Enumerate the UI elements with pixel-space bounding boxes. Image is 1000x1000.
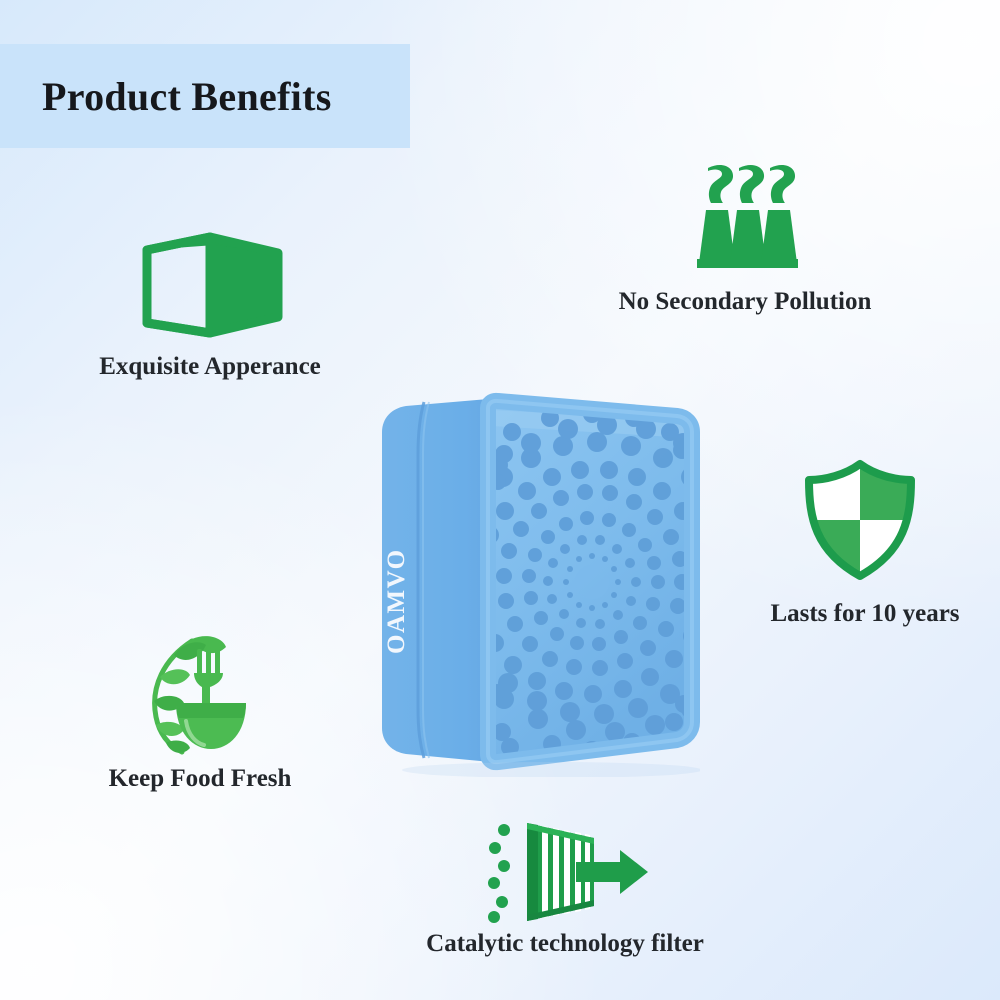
- feature-label-lasts-10-years: Lasts for 10 years: [740, 600, 990, 628]
- feature-keep-food-fresh: Keep Food Fresh: [75, 625, 325, 830]
- page-title: Product Benefits: [42, 73, 332, 120]
- shield-icon: [795, 455, 925, 585]
- product-benefits-infographic: Product Benefits Exquisite Apperance: [0, 0, 1000, 1000]
- feature-label-exquisite-apperance: Exquisite Apperance: [60, 353, 360, 381]
- feature-label-no-secondary-pollution: No Secondary Pollution: [585, 288, 905, 316]
- feature-exquisite-apperance: Exquisite Apperance: [60, 225, 360, 425]
- feature-label-catalytic-technology-filter: Catalytic technology filter: [390, 930, 740, 958]
- feature-lasts-10-years: Lasts for 10 years: [740, 455, 990, 665]
- cube-icon: [135, 225, 285, 340]
- factory-icon: [695, 160, 800, 270]
- filter-arrow-icon: [480, 818, 650, 923]
- feature-no-secondary-pollution: No Secondary Pollution: [585, 160, 905, 350]
- title-banner: Product Benefits: [0, 44, 410, 148]
- feature-catalytic-technology-filter: Catalytic technology filter: [390, 818, 740, 973]
- product-image: OAMVO: [352, 392, 700, 777]
- product-brand-text: OAMVO: [383, 548, 410, 654]
- feature-label-keep-food-fresh: Keep Food Fresh: [75, 765, 325, 793]
- bowl-leaf-icon: [130, 625, 265, 755]
